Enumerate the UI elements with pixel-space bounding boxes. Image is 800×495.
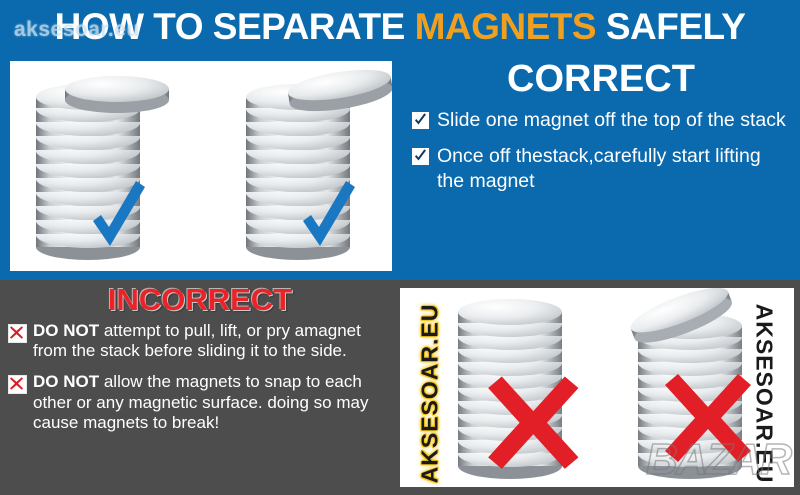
incorrect-photo: AKSESOAR.EU AKSESOAR.EU BAZAR (400, 288, 794, 487)
do-not-label: DO NOT (33, 372, 99, 391)
watermark-aksesoar-left: AKSESOAR.EU (416, 304, 443, 484)
correct-magnets-illustration (10, 61, 392, 271)
correct-text-panel: CORRECT Slide one magnet off the top of … (400, 52, 800, 280)
page-title: HOW TO SEPARATE MAGNETS SAFELY (55, 8, 746, 45)
correct-item-text: Once off thestack,carefully start liftin… (437, 144, 792, 193)
incorrect-item: DO NOT attempt to pull, lift, or pry ama… (6, 321, 394, 362)
x-mark-icon (8, 375, 27, 394)
correct-item-text: Slide one magnet off the top of the stac… (437, 108, 786, 132)
incorrect-item-text: DO NOT allow the magnets to snap to each… (33, 372, 394, 434)
incorrect-text-panel: INCORRECT DO NOT attempt to pull, lift, … (0, 280, 400, 495)
magnet-stack-left (36, 76, 169, 260)
incorrect-heading: INCORRECT (6, 284, 394, 317)
incorrect-image-panel: AKSESOAR.EU AKSESOAR.EU BAZAR (400, 280, 800, 495)
magnet-stack-right (246, 64, 392, 260)
correct-image-panel (0, 52, 400, 280)
title-part2: SAFELY (596, 6, 745, 47)
incorrect-item-text: DO NOT attempt to pull, lift, or pry ama… (33, 321, 394, 362)
title-part1: HOW TO SEPARATE (55, 6, 415, 47)
magnet-stack-pried (626, 288, 751, 479)
magnet-stack-pulled-up (458, 299, 578, 479)
top-magnet-sliding-right (286, 64, 392, 117)
watermark-aksesoar-right: AKSESOAR.EU (751, 304, 778, 484)
checkmark-icon (412, 112, 429, 129)
infographic-page: HOW TO SEPARATE MAGNETS SAFELY aksesoar.… (0, 0, 800, 495)
do-not-label: DO NOT (33, 321, 99, 340)
header-banner: HOW TO SEPARATE MAGNETS SAFELY aksesoar.… (0, 0, 800, 52)
correct-heading: CORRECT (410, 60, 792, 100)
top-magnet-lifted-vertically (458, 299, 562, 325)
title-highlight: MAGNETS (415, 6, 597, 47)
incorrect-magnets-illustration (400, 288, 794, 487)
correct-photo (10, 61, 392, 271)
x-mark-icon (8, 324, 27, 343)
top-magnet-sliding-left (65, 76, 169, 113)
incorrect-item: DO NOT allow the magnets to snap to each… (6, 372, 394, 434)
checkmark-icon (412, 148, 429, 165)
correct-item: Once off thestack,carefully start liftin… (410, 144, 792, 193)
correct-item: Slide one magnet off the top of the stac… (410, 108, 792, 132)
